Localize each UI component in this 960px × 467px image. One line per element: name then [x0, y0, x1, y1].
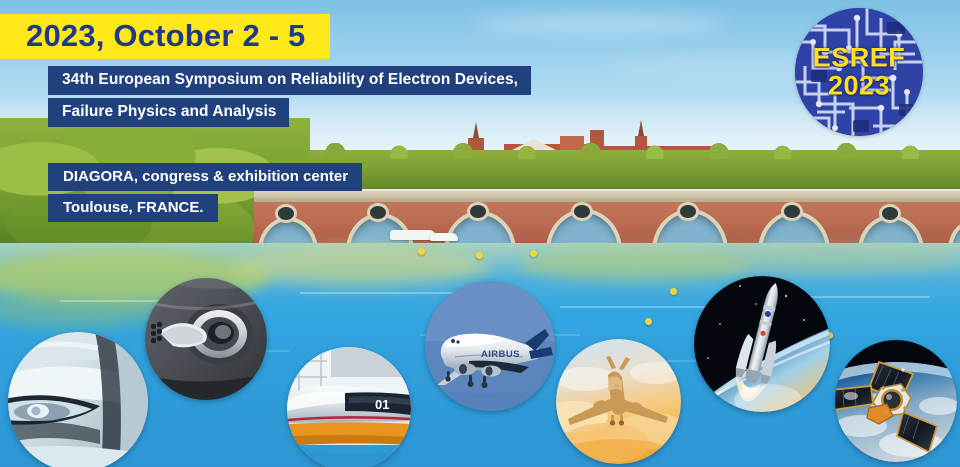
car-headlight-photo: [8, 332, 148, 467]
symposium-title-line-2: Failure Physics and Analysis: [48, 98, 289, 127]
bridge-oculus: [370, 206, 386, 219]
bridge-oculus: [784, 205, 800, 218]
river-buoy: [670, 288, 677, 295]
satellite-in-orbit-photo: [835, 340, 957, 462]
beluga-livery: AIRBUS: [481, 349, 520, 360]
thumbnail-rocket-launch[interactable]: Space launch: [694, 276, 830, 412]
rocket-launch-photo: [694, 276, 830, 412]
airliner-at-sunset-photo: [556, 339, 681, 464]
venue-name: DIAGORA, congress & exhibition center: [48, 163, 362, 191]
thumbnail-car-headlight[interactable]: Automotive: [8, 332, 148, 467]
thumbnail-ev-charging[interactable]: Electric vehicle charging: [145, 278, 267, 400]
symposium-title-line-1: 34th European Symposium on Reliability o…: [48, 66, 531, 95]
conference-banner: 2023, October 2 - 5 34th European Sympos…: [0, 0, 960, 467]
thumbnail-satellite[interactable]: Satellite: [835, 340, 957, 462]
algae-patch: [230, 246, 490, 286]
thumbnail-high-speed-train[interactable]: 01 Rail: [287, 347, 411, 467]
river-buoy: [476, 252, 483, 259]
esref-logo-name: ESREF: [795, 44, 923, 72]
pont-neuf-bridge: [254, 189, 960, 249]
event-date-bar: 2023, October 2 - 5: [0, 14, 330, 59]
bridge-oculus: [574, 205, 590, 218]
venue-city: Toulouse, FRANCE.: [48, 194, 218, 222]
esref-logo-year: 2023: [795, 72, 923, 100]
moored-boat: [430, 233, 458, 241]
algae-patch: [700, 244, 960, 274]
bridge-oculus: [882, 207, 898, 220]
train-marking: 01: [375, 397, 389, 412]
ev-charging-port-photo: [145, 278, 267, 400]
airbus-beluga-aircraft-photo: AIRBUS: [425, 281, 555, 411]
high-speed-train-photo: 01: [287, 347, 411, 467]
bridge-oculus: [680, 205, 696, 218]
thumbnail-airbus-beluga[interactable]: AIRBUS: [425, 281, 555, 411]
bridge-oculus: [278, 207, 294, 220]
river-buoy: [530, 250, 537, 257]
river-buoy: [418, 248, 425, 255]
thumbnail-airliner-sunset[interactable]: Aviation: [556, 339, 681, 464]
cloud-wisp: [470, 16, 730, 32]
river-buoy: [645, 318, 652, 325]
esref-logo-text: ESREF 2023: [795, 44, 923, 99]
bridge-oculus: [470, 205, 486, 218]
esref-logo[interactable]: ESREF 2023: [795, 8, 923, 136]
